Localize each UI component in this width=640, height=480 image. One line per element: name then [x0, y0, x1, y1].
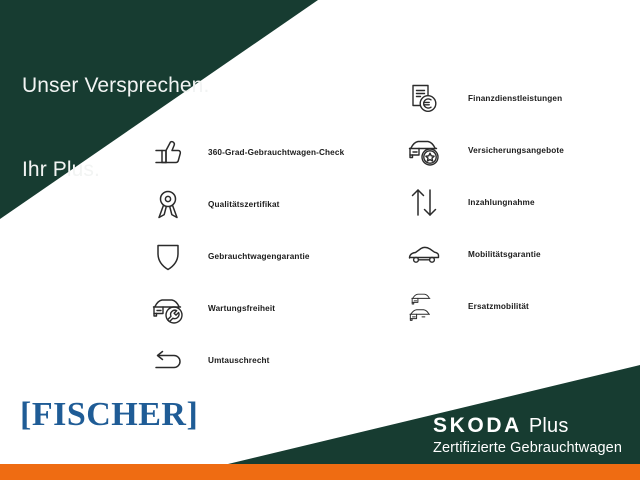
- feature-label: Versicherungsangebote: [468, 146, 564, 155]
- feature-item-financial-services: Finanzdienstleistungen: [402, 72, 564, 124]
- feature-list-right: Finanzdienstleistungen Versicherungsange…: [402, 72, 564, 332]
- feature-label: Qualitätszertifikat: [208, 200, 280, 209]
- brand-tagline: Zertifizierte Gebrauchtwagen: [433, 440, 622, 456]
- feature-item-quality-certificate: Qualitätszertifikat: [146, 178, 344, 230]
- thumbs-up-icon: [146, 130, 190, 174]
- two-cars-icon: [402, 284, 446, 328]
- up-down-arrows-icon: [402, 180, 446, 224]
- feature-item-mobility-guarantee: Mobilitätsgarantie: [402, 228, 564, 280]
- feature-label: Ersatzmobilität: [468, 302, 529, 311]
- car-side-icon: [402, 232, 446, 276]
- orange-bottom-bar: [0, 464, 640, 480]
- feature-item-insurance: Versicherungsangebote: [402, 124, 564, 176]
- feature-item-replacement-mobility: Ersatzmobilität: [402, 280, 564, 332]
- feature-label: Mobilitätsgarantie: [468, 250, 541, 259]
- car-wrench-icon: [146, 286, 190, 330]
- feature-item-return-right: Umtauschrecht: [146, 334, 344, 386]
- skoda-wordmark: SKODA: [433, 415, 522, 436]
- feature-label: 360-Grad-Gebrauchtwagen-Check: [208, 148, 344, 157]
- dealer-logo: [FISCHER]: [20, 398, 198, 432]
- brand-plus-label: Plus: [529, 416, 569, 436]
- promo-banner: Unser Versprechen. Ihr Plus. 360-Grad-Ge…: [0, 0, 640, 480]
- document-euro-icon: [402, 76, 446, 120]
- return-arrow-icon: [146, 338, 190, 382]
- feature-item-warranty: Gebrauchtwagengarantie: [146, 230, 344, 282]
- feature-item-maintenance: Wartungsfreiheit: [146, 282, 344, 334]
- feature-list-left: 360-Grad-Gebrauchtwagen-Check Qualitätsz…: [146, 126, 344, 386]
- feature-label: Umtauschrecht: [208, 356, 270, 365]
- car-star-icon: [402, 128, 446, 172]
- brand-name-row: SKODA Plus: [433, 415, 622, 436]
- feature-item-trade-in: Inzahlungnahme: [402, 176, 564, 228]
- shield-icon: [146, 234, 190, 278]
- feature-label: Finanzdienstleistungen: [468, 94, 562, 103]
- feature-item-check: 360-Grad-Gebrauchtwagen-Check: [146, 126, 344, 178]
- feature-label: Gebrauchtwagengarantie: [208, 252, 310, 261]
- headline-line-1: Unser Versprechen.: [22, 72, 209, 100]
- award-rosette-icon: [146, 182, 190, 226]
- feature-label: Inzahlungnahme: [468, 198, 535, 207]
- brand-lockup: SKODA Plus Zertifizierte Gebrauchtwagen: [433, 415, 622, 456]
- feature-label: Wartungsfreiheit: [208, 304, 275, 313]
